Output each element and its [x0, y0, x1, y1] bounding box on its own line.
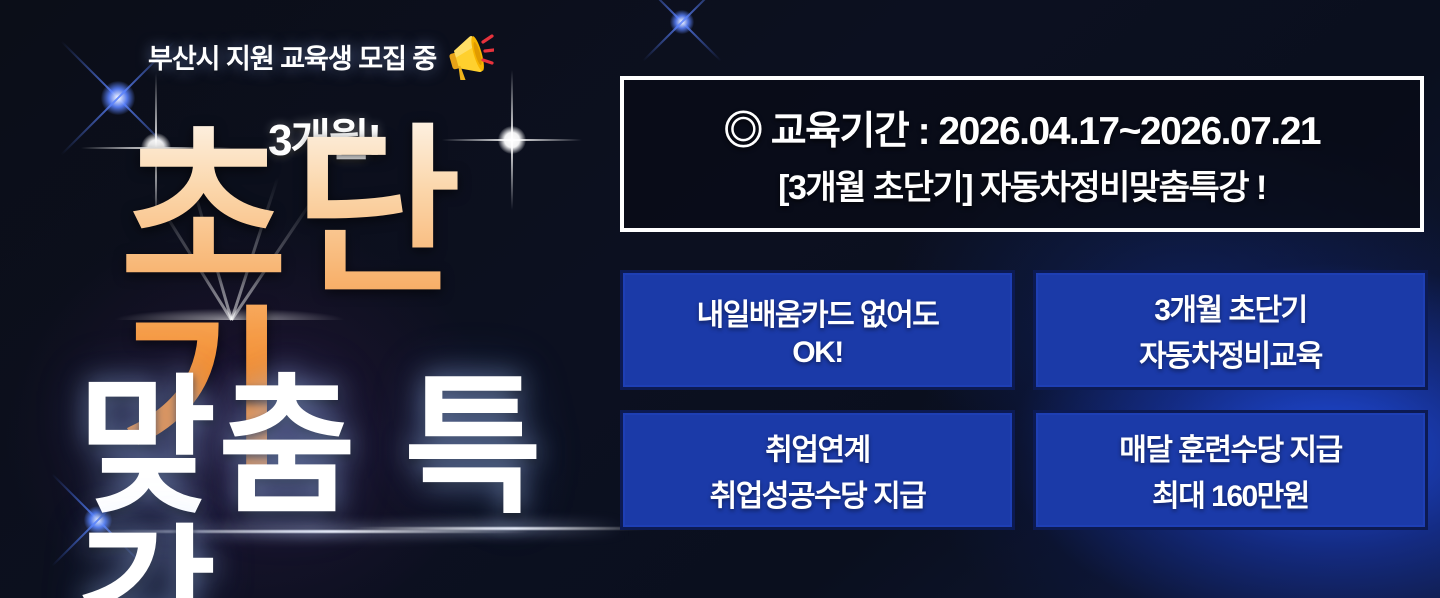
feature-3-line2: 취업성공수당 지급	[710, 471, 926, 515]
megaphone-icon	[444, 32, 494, 80]
feature-card-4[interactable]: 매달 훈련수당 지급 최대 160만원	[1033, 410, 1428, 530]
feature-2-line2: 자동차정비교육	[1139, 331, 1322, 375]
kicker-label: 부산시 지원 교육생 모집 중	[148, 37, 436, 76]
feature-1-line2: OK!	[792, 336, 843, 370]
feature-card-3[interactable]: 취업연계 취업성공수당 지급	[620, 410, 1015, 530]
feature-card-2[interactable]: 3개월 초단기 자동차정비교육	[1033, 270, 1428, 390]
title-white: 맞춤특강	[78, 372, 620, 598]
course-period-box: ◎ 교육기간 : 2026.04.17~2026.07.21 [3개월 초단기]…	[620, 76, 1424, 232]
kicker-text: 부산시 지원 교육생 모집 중	[148, 32, 494, 80]
details-block: ◎ 교육기간 : 2026.04.17~2026.07.21 [3개월 초단기]…	[612, 0, 1440, 598]
feature-3-line1: 취업연계	[765, 425, 869, 469]
feature-2-line1: 3개월 초단기	[1154, 285, 1307, 329]
feature-4-line1: 매달 훈련수당 지급	[1119, 425, 1341, 469]
feature-1-line1: 내일배움카드 없어도	[697, 290, 939, 334]
course-period-line: ◎ 교육기간 : 2026.04.17~2026.07.21	[724, 100, 1320, 156]
headline-block: 부산시 지원 교육생 모집 중	[0, 0, 620, 598]
course-title-line: [3개월 초단기] 자동차정비맞춤특강 !	[778, 160, 1266, 209]
title-white-part1: 맞춤	[78, 363, 358, 531]
feature-card-1[interactable]: 내일배움카드 없어도 OK!	[620, 270, 1015, 390]
promo-banner: 부산시 지원 교육생 모집 중	[0, 0, 1440, 598]
feature-grid: 내일배움카드 없어도 OK! 3개월 초단기 자동차정비교육 취업연계 취업성공…	[620, 270, 1428, 530]
feature-4-line2: 최대 160만원	[1152, 471, 1309, 515]
